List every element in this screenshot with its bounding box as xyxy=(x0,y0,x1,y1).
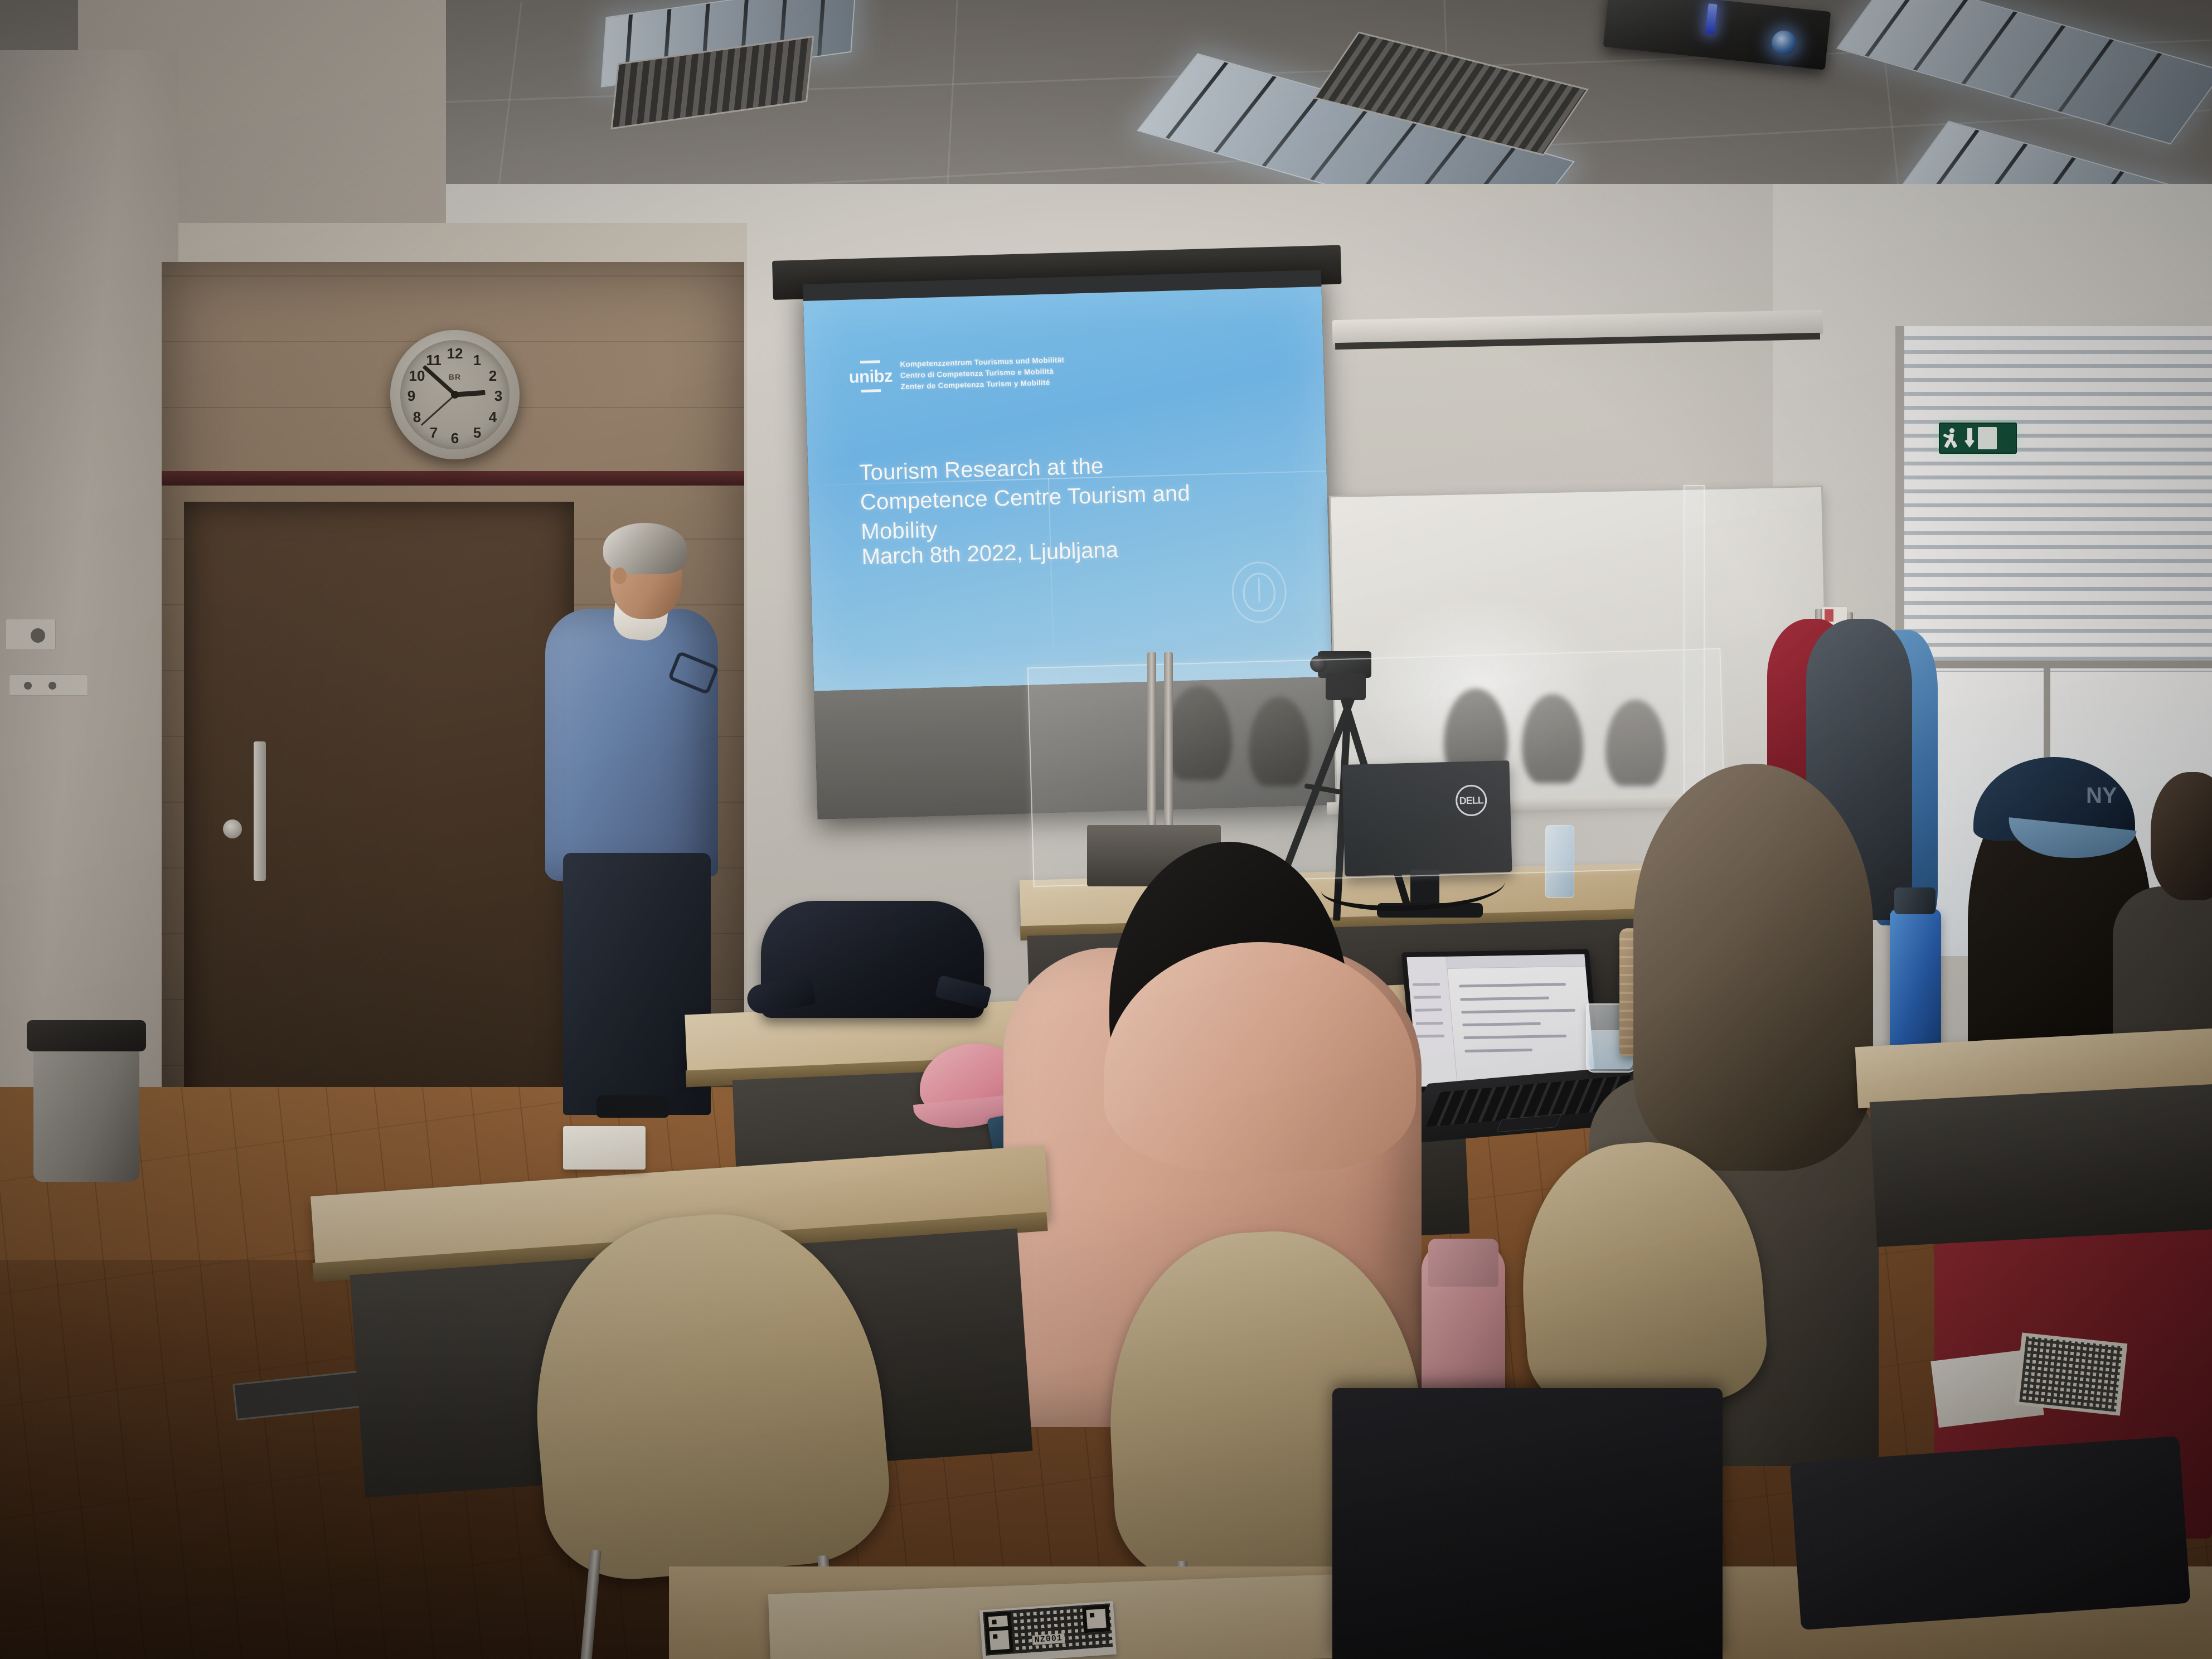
waste-bin-lid xyxy=(27,1020,146,1051)
clock-brand-label: BR xyxy=(449,372,461,381)
clock-numeral: 1 xyxy=(469,352,486,368)
blue-sport-bottle xyxy=(1890,909,1941,1054)
qr-code-card xyxy=(2015,1332,2128,1415)
unibz-logo: unibz Kompetenzzentrum Tourismus und Mob… xyxy=(848,355,1065,393)
bottle-cap xyxy=(1428,1239,1498,1287)
clock-numeral: 11 xyxy=(425,352,442,368)
clock-hour-hand xyxy=(455,390,485,397)
running-man-icon xyxy=(1942,428,1961,449)
qr-code-sticker: NZ001 xyxy=(979,1601,1117,1659)
down-arrow-icon xyxy=(1962,427,1977,449)
student-hair xyxy=(1633,764,1873,1171)
exit-sign-blank-panel xyxy=(1978,427,1997,449)
clock-numeral: 4 xyxy=(484,409,501,425)
projected-slide: unibz Kompetenzzentrum Tourismus und Mob… xyxy=(803,287,1332,691)
unibz-wordmark: unibz xyxy=(848,367,892,386)
bottle-cap xyxy=(1894,887,1935,914)
qr-code-pattern xyxy=(2019,1336,2122,1412)
student-head xyxy=(2151,772,2212,900)
tissue-box xyxy=(563,1126,646,1170)
logo-dash-top xyxy=(860,360,880,363)
clock-numeral: 7 xyxy=(425,424,442,441)
qr-finder-pattern xyxy=(985,1626,1013,1655)
presenter-ear xyxy=(613,567,627,584)
slide-title: Tourism Research at the Competence Centr… xyxy=(859,447,1274,547)
presenter-torso-sweater xyxy=(545,609,718,876)
wall-switch[interactable] xyxy=(6,619,56,650)
door-lock[interactable] xyxy=(223,819,242,838)
qr-finder-pattern xyxy=(1082,1604,1110,1633)
clock-numeral: 10 xyxy=(409,367,425,384)
wall-clock: BR 12 1 2 3 4 5 6 7 8 9 10 11 xyxy=(390,330,520,459)
presenter-shoe xyxy=(596,1095,669,1118)
waste-bin xyxy=(33,1042,139,1182)
university-seal-icon xyxy=(1231,561,1287,624)
clock-second-hand xyxy=(420,394,455,426)
clock-numeral: 5 xyxy=(469,424,486,441)
cap-logo-icon: NY xyxy=(2086,780,2116,811)
foreground-tablet[interactable] xyxy=(1789,1436,2190,1630)
laptop-lid xyxy=(1401,949,1602,1092)
projector-lens xyxy=(1770,30,1797,56)
foreground-desk-right-panel xyxy=(1870,1083,2212,1247)
laptop-screen-content xyxy=(1406,954,1595,1087)
presenter-hair xyxy=(603,523,687,574)
logo-line-it: Centro di Competenza Turismo e Mobilità xyxy=(900,367,1065,380)
logo-subtitle-lines: Kompetenzzentrum Tourismus und Mobilität… xyxy=(900,356,1065,391)
wall-accent-band xyxy=(162,471,744,486)
clock-centre-pin xyxy=(451,391,459,399)
classroom-scene: BR 12 1 2 3 4 5 6 7 8 9 10 11 xyxy=(0,0,2212,1659)
clock-numeral: 3 xyxy=(490,387,507,404)
window-blinds[interactable] xyxy=(1904,326,2212,672)
unibz-logo-mark: unibz xyxy=(848,360,893,393)
clock-numeral: 2 xyxy=(484,367,501,384)
logo-dash-bottom xyxy=(861,389,881,392)
logo-line-de: Kompetenzzentrum Tourismus und Mobilität xyxy=(900,356,1064,368)
classroom-door[interactable] xyxy=(184,502,574,1132)
projector-indicator-light xyxy=(1705,3,1718,34)
clock-numeral: 9 xyxy=(403,387,420,404)
clock-face: BR 12 1 2 3 4 5 6 7 8 9 10 11 xyxy=(400,340,510,449)
clock-numeral: 12 xyxy=(447,345,463,362)
door-handle[interactable] xyxy=(254,741,266,881)
foreground-laptop-lid[interactable] xyxy=(1332,1388,1723,1659)
slide-title-line-2: Competence Centre Tourism and Mobility xyxy=(860,477,1274,547)
logo-line-lld: Zenter de Competenza Turism y Mobilité xyxy=(900,378,1065,391)
ceiling-light-fixture xyxy=(1836,0,2212,144)
wall-socket[interactable] xyxy=(9,675,88,696)
clock-numeral: 6 xyxy=(447,430,463,447)
emergency-exit-sign xyxy=(1939,423,2017,454)
seal-crest-shape xyxy=(1243,573,1276,613)
